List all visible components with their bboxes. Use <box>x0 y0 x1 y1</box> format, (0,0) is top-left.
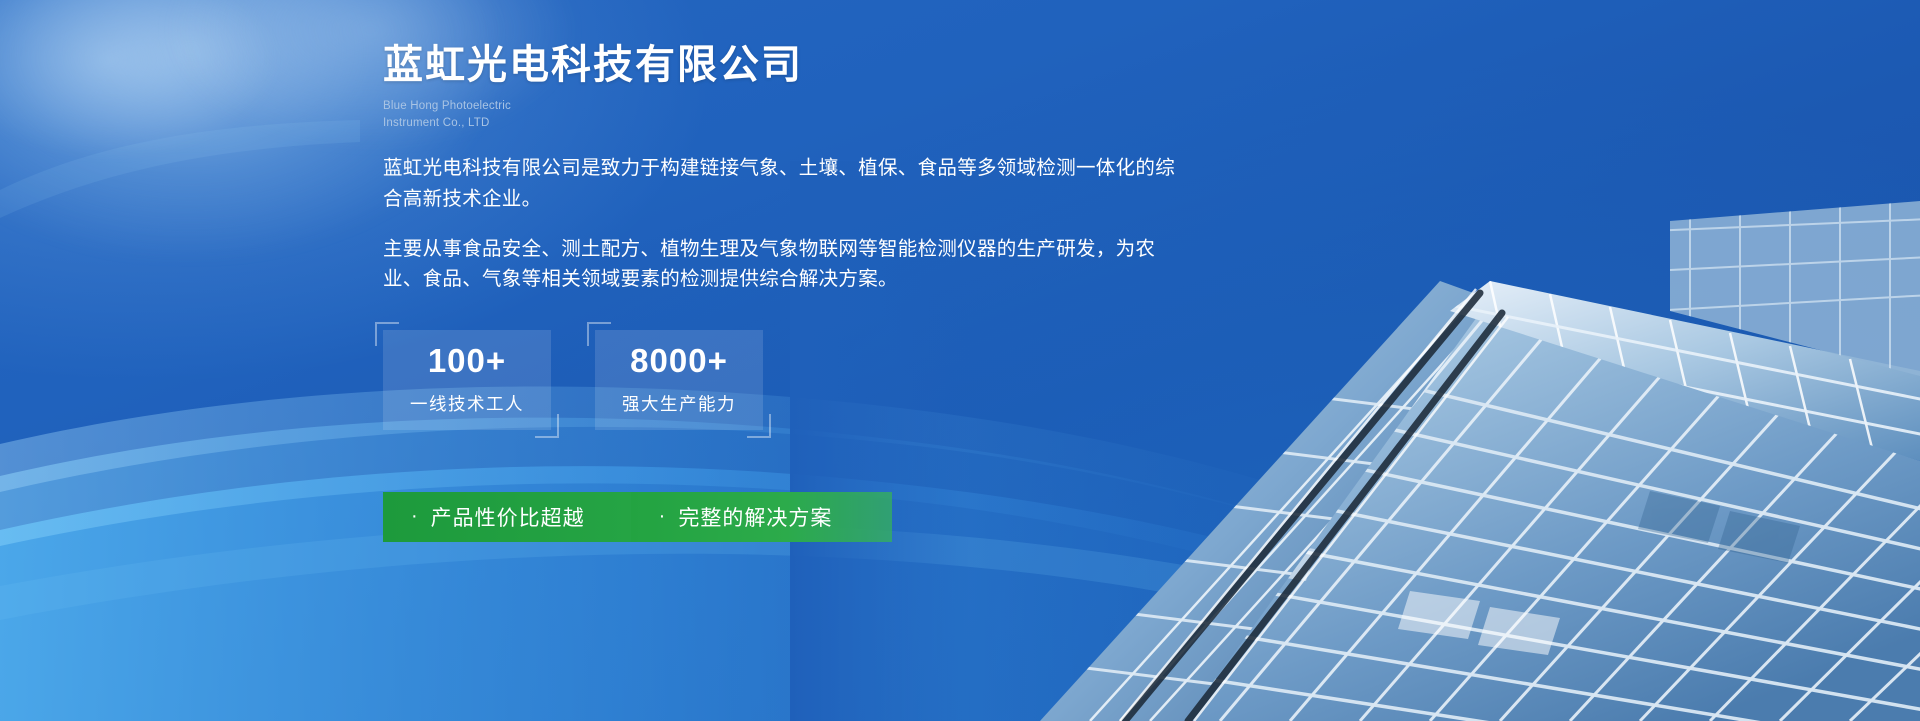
feature-tag-label: 完整的解决方案 <box>678 502 832 532</box>
company-hero-banner: 蓝虹光电科技有限公司 Blue Hong Photoelectric Instr… <box>0 0 1920 721</box>
feature-tag-price-advantage[interactable]: · 产品性价比超越 <box>383 492 631 542</box>
company-description-paragraph-1: 蓝虹光电科技有限公司是致力于构建链接气象、土壤、植保、食品等多领域检测一体化的综… <box>383 153 1183 213</box>
bullet-dot-icon: · <box>659 506 667 526</box>
stat-number: 8000+ <box>630 344 728 377</box>
feature-tag-label: 产品性价比超越 <box>431 502 585 532</box>
stat-label: 一线技术工人 <box>410 391 524 416</box>
bullet-dot-icon: · <box>411 506 419 526</box>
company-subtitle-line-2: Instrument Co., LTD <box>383 115 1563 132</box>
page-title: 蓝虹光电科技有限公司 <box>383 40 1563 90</box>
hero-content: 蓝虹光电科技有限公司 Blue Hong Photoelectric Instr… <box>383 0 1563 542</box>
stat-card: 100+ 一线技术工人 <box>383 330 551 430</box>
stat-label: 强大生产能力 <box>622 391 736 416</box>
feature-tag-complete-solution[interactable]: · 完整的解决方案 <box>631 492 893 542</box>
stats-group: 100+ 一线技术工人 8000+ 强大生产能力 <box>383 330 1563 430</box>
stat-number: 100+ <box>428 344 506 377</box>
company-subtitle-line-1: Blue Hong Photoelectric <box>383 98 1563 115</box>
stat-card: 8000+ 强大生产能力 <box>595 330 763 430</box>
feature-tags-group: · 产品性价比超越 · 完整的解决方案 <box>383 492 1563 542</box>
company-description-paragraph-2: 主要从事食品安全、测土配方、植物生理及气象物联网等智能检测仪器的生产研发，为农业… <box>383 234 1193 294</box>
company-subtitle: Blue Hong Photoelectric Instrument Co., … <box>383 98 1563 131</box>
